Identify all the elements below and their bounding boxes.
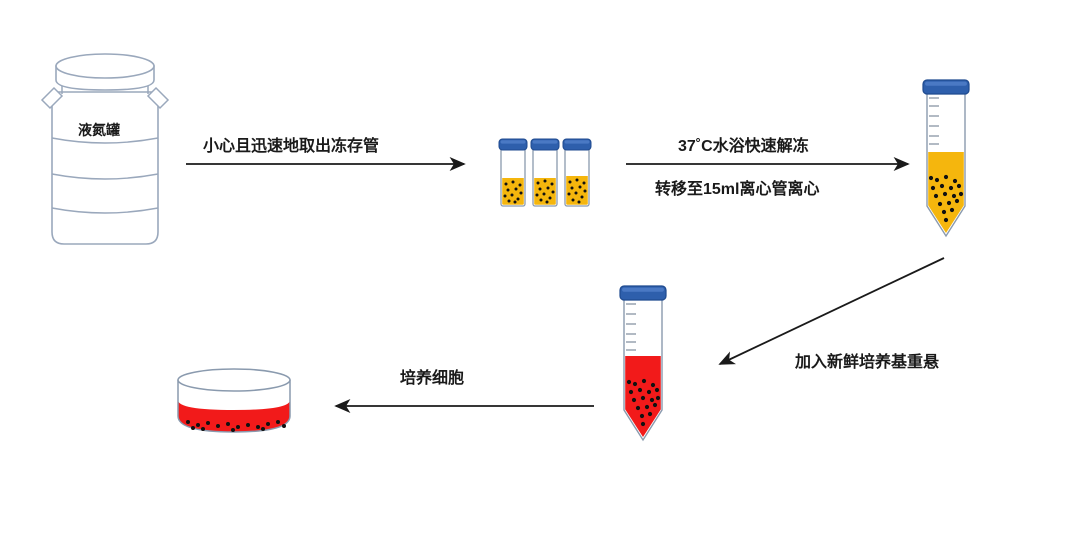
step2-arrow [626, 158, 916, 172]
cryovial[interactable] [531, 139, 559, 206]
cryovial-group[interactable] [497, 134, 593, 212]
dish-rim[interactable] [178, 369, 290, 391]
tube-cap-highlight [622, 288, 664, 292]
tank-label: 液氮罐 [78, 120, 120, 140]
tube-amber-graphic [915, 78, 977, 260]
tube-red-graphic [612, 284, 674, 462]
step2-label-bottom: 转移至15ml离心管离心 [655, 175, 819, 199]
cryovial[interactable] [499, 139, 527, 206]
centrifuge-tube-amber[interactable] [915, 78, 977, 260]
tank-lid-top[interactable] [56, 54, 154, 78]
step4-label: 培养细胞 [400, 364, 464, 388]
tube-cap-highlight [925, 82, 967, 86]
step2-label-top: 37˚C水浴快速解冻 [678, 132, 809, 156]
cryovials-graphic [497, 134, 593, 212]
liquid-nitrogen-tank[interactable]: 液氮罐 [30, 52, 190, 252]
dish-graphic [172, 366, 304, 444]
centrifuge-tube-red[interactable] [612, 284, 674, 462]
tank-graphic [30, 52, 190, 252]
tank-body [52, 92, 158, 244]
culture-dish[interactable] [172, 366, 304, 444]
step1-label: 小心且迅速地取出冻存管 [203, 132, 379, 156]
step3-label: 加入新鲜培养基重悬 [795, 348, 939, 372]
step4-arrow [328, 400, 598, 414]
cryovial[interactable] [563, 139, 591, 206]
step1-arrow [186, 158, 476, 172]
workflow-diagram: 液氮罐 小心且迅速地取出冻存管 [0, 0, 1080, 556]
